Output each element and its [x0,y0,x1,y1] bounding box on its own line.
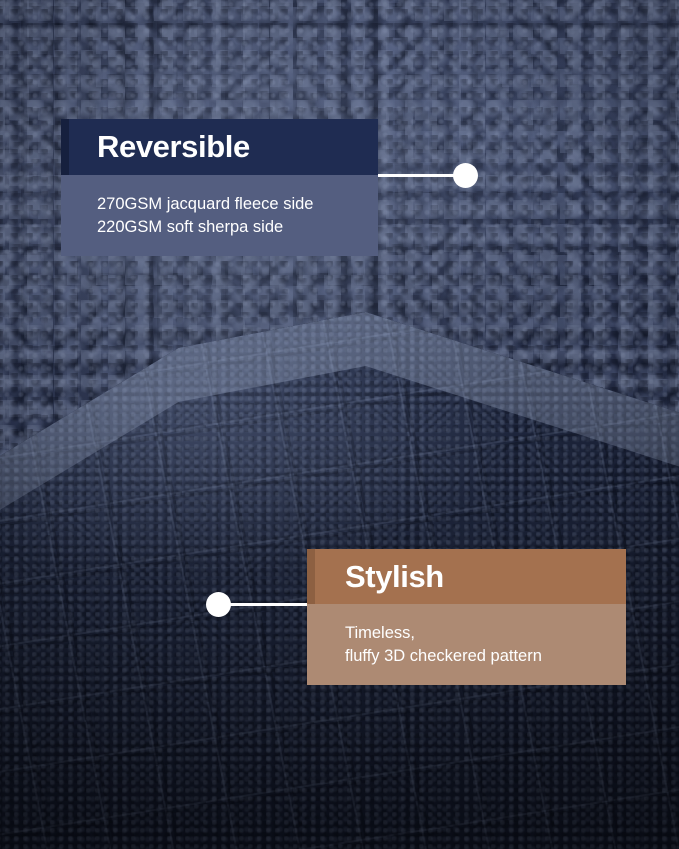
callout-dot-stylish [206,592,231,617]
callout-stylish-line-2: fluffy 3D checkered pattern [345,645,626,668]
callout-stylish-line-1: Timeless, [345,622,626,645]
callout-dot-reversible [453,163,478,188]
callout-stylish: Stylish Timeless, fluffy 3D checkered pa… [307,549,626,685]
callout-reversible-title: Reversible [97,129,250,165]
callout-reversible-body: 270GSM jacquard fleece side 220GSM soft … [61,175,378,256]
callout-stylish-title: Stylish [345,559,444,595]
callout-reversible-header: Reversible [61,119,378,175]
callout-stylish-header: Stylish [307,549,626,604]
callout-reversible-line-2: 220GSM soft sherpa side [97,216,378,239]
product-feature-image: Reversible 270GSM jacquard fleece side 2… [0,0,679,849]
callout-line-stylish [229,603,309,606]
callout-line-reversible [378,174,454,177]
callout-reversible-line-1: 270GSM jacquard fleece side [97,193,378,216]
callout-stylish-accent-bar [307,549,315,604]
callout-stylish-body: Timeless, fluffy 3D checkered pattern [307,604,626,685]
callout-reversible: Reversible 270GSM jacquard fleece side 2… [61,119,378,256]
callout-reversible-accent-bar [61,119,69,175]
